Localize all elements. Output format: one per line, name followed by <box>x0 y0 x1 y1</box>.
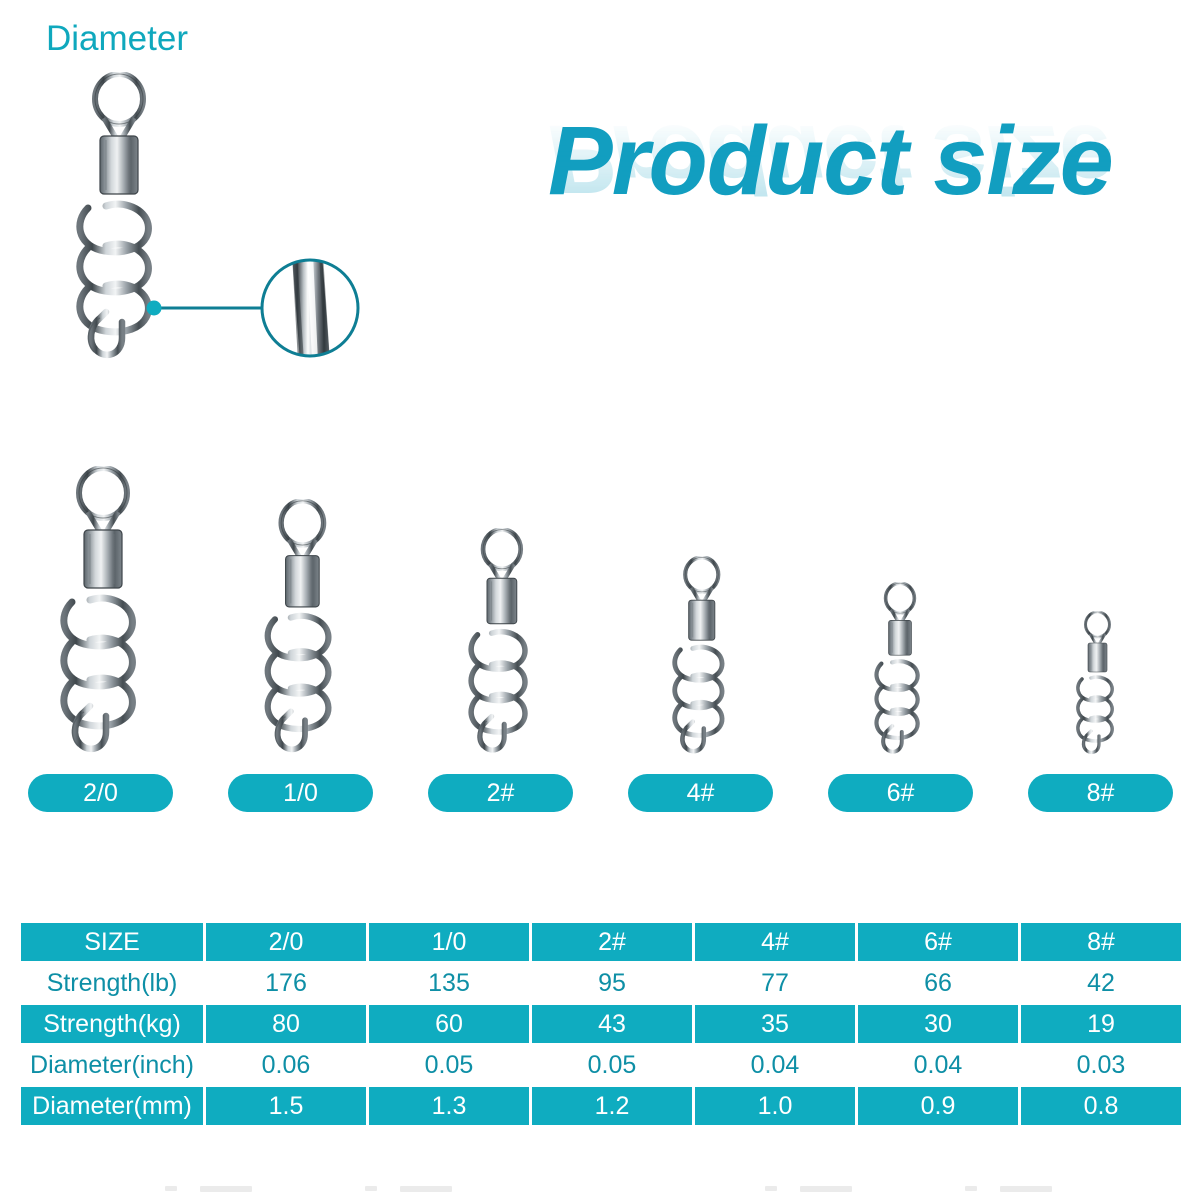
table-cell: 0.05 <box>369 1046 529 1084</box>
table-cell: 0.9 <box>858 1087 1018 1125</box>
size-pill-4[interactable]: 4# <box>628 774 773 812</box>
table-cell: 0.8 <box>1021 1087 1181 1125</box>
table-cell: 1.2 <box>532 1087 692 1125</box>
swivel-illustration-10 <box>236 499 369 756</box>
swivel-illustration-6 <box>855 582 945 756</box>
bottom-artifact <box>965 1186 977 1191</box>
table-cell: 42 <box>1021 964 1181 1002</box>
table-cell: 80 <box>206 1005 366 1043</box>
table-cell: 2/0 <box>206 923 366 961</box>
table-cell: 30 <box>858 1005 1018 1043</box>
specification-table-body: SIZE2/01/02#4#6#8#Strength(lb)1761359577… <box>21 923 1181 1125</box>
swivel-illustration-8 <box>1060 611 1135 756</box>
bottom-artifact <box>765 1186 777 1191</box>
table-cell: 66 <box>858 964 1018 1002</box>
callout-dot-icon <box>147 301 162 316</box>
swivel-size-row <box>0 400 1200 760</box>
bottom-artifact <box>400 1186 452 1192</box>
swivel-illustration-20 <box>28 466 178 756</box>
table-row-label: Strength(kg) <box>21 1005 203 1043</box>
bottom-artifact <box>365 1186 377 1191</box>
table-cell: 8# <box>1021 923 1181 961</box>
table-cell: 95 <box>532 964 692 1002</box>
table-cell: 176 <box>206 964 366 1002</box>
table-cell: 6# <box>858 923 1018 961</box>
table-cell: 19 <box>1021 1005 1181 1043</box>
table-cell: 77 <box>695 964 855 1002</box>
diameter-callout <box>140 250 380 370</box>
size-pill-2[interactable]: 2# <box>428 774 573 812</box>
table-cell: 0.03 <box>1021 1046 1181 1084</box>
table-row-label: Strength(lb) <box>21 964 203 1002</box>
table-row-label: Diameter(mm) <box>21 1087 203 1125</box>
table-cell: 1/0 <box>369 923 529 961</box>
table-cell: 1.3 <box>369 1087 529 1125</box>
table-cell: 135 <box>369 964 529 1002</box>
table-cell: 0.05 <box>532 1046 692 1084</box>
diameter-label: Diameter <box>46 21 188 56</box>
table-row-label: Diameter(inch) <box>21 1046 203 1084</box>
table-row: SIZE2/01/02#4#6#8# <box>21 923 1181 961</box>
table-cell: 1.0 <box>695 1087 855 1125</box>
size-pill-8[interactable]: 8# <box>1028 774 1173 812</box>
product-size-infographic: Diameter 2/01/02#4#6#8# SIZE2/01/02#4#6#… <box>0 0 1200 1200</box>
table-cell: 4# <box>695 923 855 961</box>
table-cell: 1.5 <box>206 1087 366 1125</box>
specification-table: SIZE2/01/02#4#6#8#Strength(lb)1761359577… <box>18 920 1184 1128</box>
swivel-illustration-2 <box>443 528 561 756</box>
size-pill-20[interactable]: 2/0 <box>28 774 173 812</box>
bottom-artifact <box>800 1186 852 1192</box>
bottom-artifact <box>1000 1186 1052 1192</box>
bottom-artifact <box>165 1186 177 1191</box>
page-title-block: Product sizeProduct size <box>548 112 1168 282</box>
size-pill-6[interactable]: 6# <box>828 774 973 812</box>
size-pill-10[interactable]: 1/0 <box>228 774 373 812</box>
table-cell: 60 <box>369 1005 529 1043</box>
table-row: Diameter(inch)0.060.050.050.040.040.03 <box>21 1046 1181 1084</box>
table-cell: 35 <box>695 1005 855 1043</box>
table-cell: 2# <box>532 923 692 961</box>
table-row: Strength(kg)806043353019 <box>21 1005 1181 1043</box>
table-row: Strength(lb)17613595776642 <box>21 964 1181 1002</box>
table-row: Diameter(mm)1.51.31.21.00.90.8 <box>21 1087 1181 1125</box>
table-cell: 0.04 <box>695 1046 855 1084</box>
bottom-artifact <box>200 1186 252 1192</box>
table-cell: 43 <box>532 1005 692 1043</box>
wire-detail-icon <box>262 254 358 362</box>
table-cell: 0.04 <box>858 1046 1018 1084</box>
swivel-illustration-4 <box>650 556 754 756</box>
size-pill-row: 2/01/02#4#6#8# <box>0 774 1200 814</box>
page-title: Product size <box>548 112 1168 209</box>
table-cell: 0.06 <box>206 1046 366 1084</box>
table-row-label: SIZE <box>21 923 203 961</box>
